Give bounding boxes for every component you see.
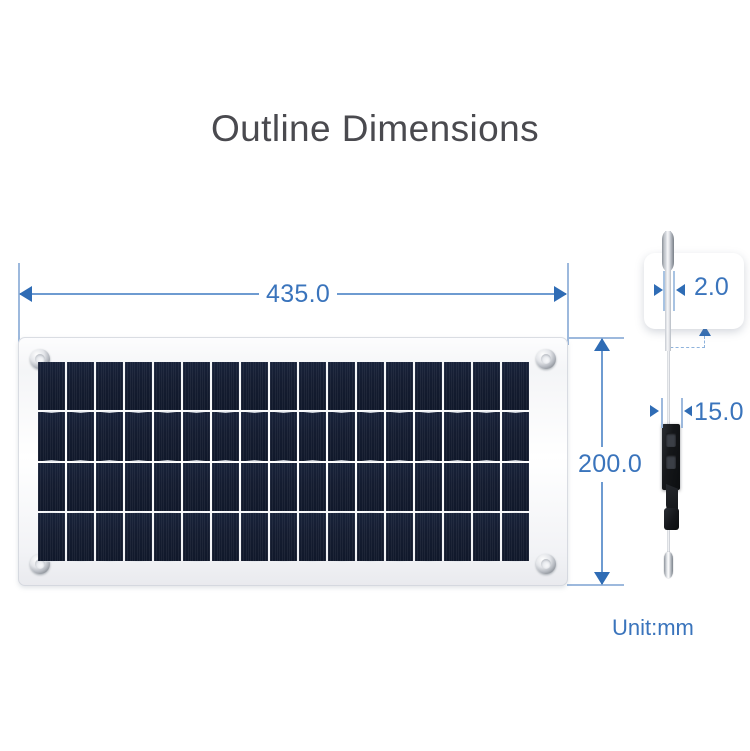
- solar-cell: [357, 513, 384, 561]
- solar-cell: [241, 362, 268, 410]
- arrow-up-height: [594, 338, 610, 351]
- solar-cell: [67, 463, 94, 511]
- solar-cell: [38, 463, 65, 511]
- solar-cell: [473, 412, 500, 460]
- solar-cell: [386, 463, 413, 511]
- extension-line-jbox-left: [661, 398, 663, 428]
- solar-cell: [328, 412, 355, 460]
- solar-cell: [270, 463, 297, 511]
- solar-cell: [125, 362, 152, 410]
- solar-cell: [241, 463, 268, 511]
- solar-cell: [183, 412, 210, 460]
- callout-cable-body: [665, 231, 671, 351]
- extension-line-right: [567, 263, 569, 345]
- junction-box: [662, 424, 680, 490]
- solar-cell: [183, 513, 210, 561]
- solar-cell: [473, 513, 500, 561]
- solar-cell: [125, 412, 152, 460]
- solar-cell: [270, 513, 297, 561]
- solar-cell: [67, 412, 94, 460]
- dimension-label-junction-box: 15.0: [692, 398, 746, 427]
- solar-cell: [386, 362, 413, 410]
- dimension-label-height: 200.0: [573, 447, 647, 482]
- cable-connector: [664, 508, 679, 530]
- solar-cell: [183, 463, 210, 511]
- solar-cell: [96, 412, 123, 460]
- unit-note: Unit:mm: [612, 615, 694, 641]
- solar-cell: [125, 513, 152, 561]
- solar-cell: [212, 412, 239, 460]
- dimension-label-thickness: 2.0: [694, 273, 729, 302]
- solar-cell: [444, 463, 471, 511]
- solar-cell: [241, 513, 268, 561]
- solar-cell: [502, 463, 529, 511]
- solar-cell: [241, 412, 268, 460]
- solar-cell: [386, 412, 413, 460]
- solar-cell: [357, 463, 384, 511]
- grommet-top-right: [536, 349, 556, 369]
- solar-cell: [212, 362, 239, 410]
- solar-cell-array: [38, 362, 529, 561]
- solar-cell: [502, 362, 529, 410]
- solar-cell: [328, 362, 355, 410]
- solar-cell: [38, 513, 65, 561]
- extension-line-jbox-right: [681, 398, 683, 428]
- solar-cell: [96, 463, 123, 511]
- solar-panel: [18, 337, 568, 586]
- grommet-bottom-right: [536, 554, 556, 574]
- dimension-label-width: 435.0: [259, 280, 337, 309]
- thickness-callout: 2.0: [644, 253, 744, 329]
- solar-cell: [502, 513, 529, 561]
- solar-cell: [154, 513, 181, 561]
- solar-cell: [328, 463, 355, 511]
- leader-line-horizontal: [665, 347, 705, 348]
- solar-cell: [386, 513, 413, 561]
- arrow-callout-left: [654, 284, 663, 296]
- solar-cell: [299, 412, 326, 460]
- solar-cell: [473, 463, 500, 511]
- solar-cell: [96, 362, 123, 410]
- solar-cell: [183, 362, 210, 410]
- solar-cell: [67, 362, 94, 410]
- solar-cell: [444, 362, 471, 410]
- solar-cell: [299, 362, 326, 410]
- solar-cell: [212, 463, 239, 511]
- solar-cell: [154, 463, 181, 511]
- solar-cell: [415, 412, 442, 460]
- cable-ferrule-bottom: [664, 552, 673, 578]
- solar-cell: [444, 513, 471, 561]
- solar-cell: [154, 362, 181, 410]
- solar-cell: [96, 513, 123, 561]
- solar-cell: [444, 412, 471, 460]
- solar-cell: [357, 412, 384, 460]
- arrow-left-width: [19, 286, 32, 302]
- solar-cell: [299, 463, 326, 511]
- solar-cell: [415, 513, 442, 561]
- outline-dimensions-diagram: Outline Dimensions 435.0 200.0 15.0: [0, 0, 750, 751]
- leader-line-vertical: [704, 336, 705, 348]
- solar-cell: [502, 412, 529, 460]
- solar-cell: [38, 412, 65, 460]
- arrow-right-width: [554, 286, 567, 302]
- solar-cell: [357, 362, 384, 410]
- junction-box-slot-2: [666, 455, 676, 469]
- extension-line-left: [18, 263, 20, 345]
- solar-cell: [299, 513, 326, 561]
- callout-edge-left: [663, 271, 665, 311]
- solar-cell: [212, 513, 239, 561]
- solar-cell: [125, 463, 152, 511]
- solar-cell: [328, 513, 355, 561]
- solar-cell: [270, 412, 297, 460]
- solar-cell: [67, 513, 94, 561]
- arrow-jbox-left: [650, 405, 659, 417]
- junction-box-slot-1: [666, 433, 676, 447]
- arrow-callout-right: [676, 284, 685, 296]
- solar-cell: [415, 463, 442, 511]
- callout-edge-right: [673, 271, 675, 311]
- solar-cell: [38, 362, 65, 410]
- arrow-down-height: [594, 572, 610, 585]
- solar-cell: [270, 362, 297, 410]
- solar-cell: [154, 412, 181, 460]
- solar-cell: [415, 362, 442, 410]
- solar-cell: [473, 362, 500, 410]
- page-title: Outline Dimensions: [0, 108, 750, 150]
